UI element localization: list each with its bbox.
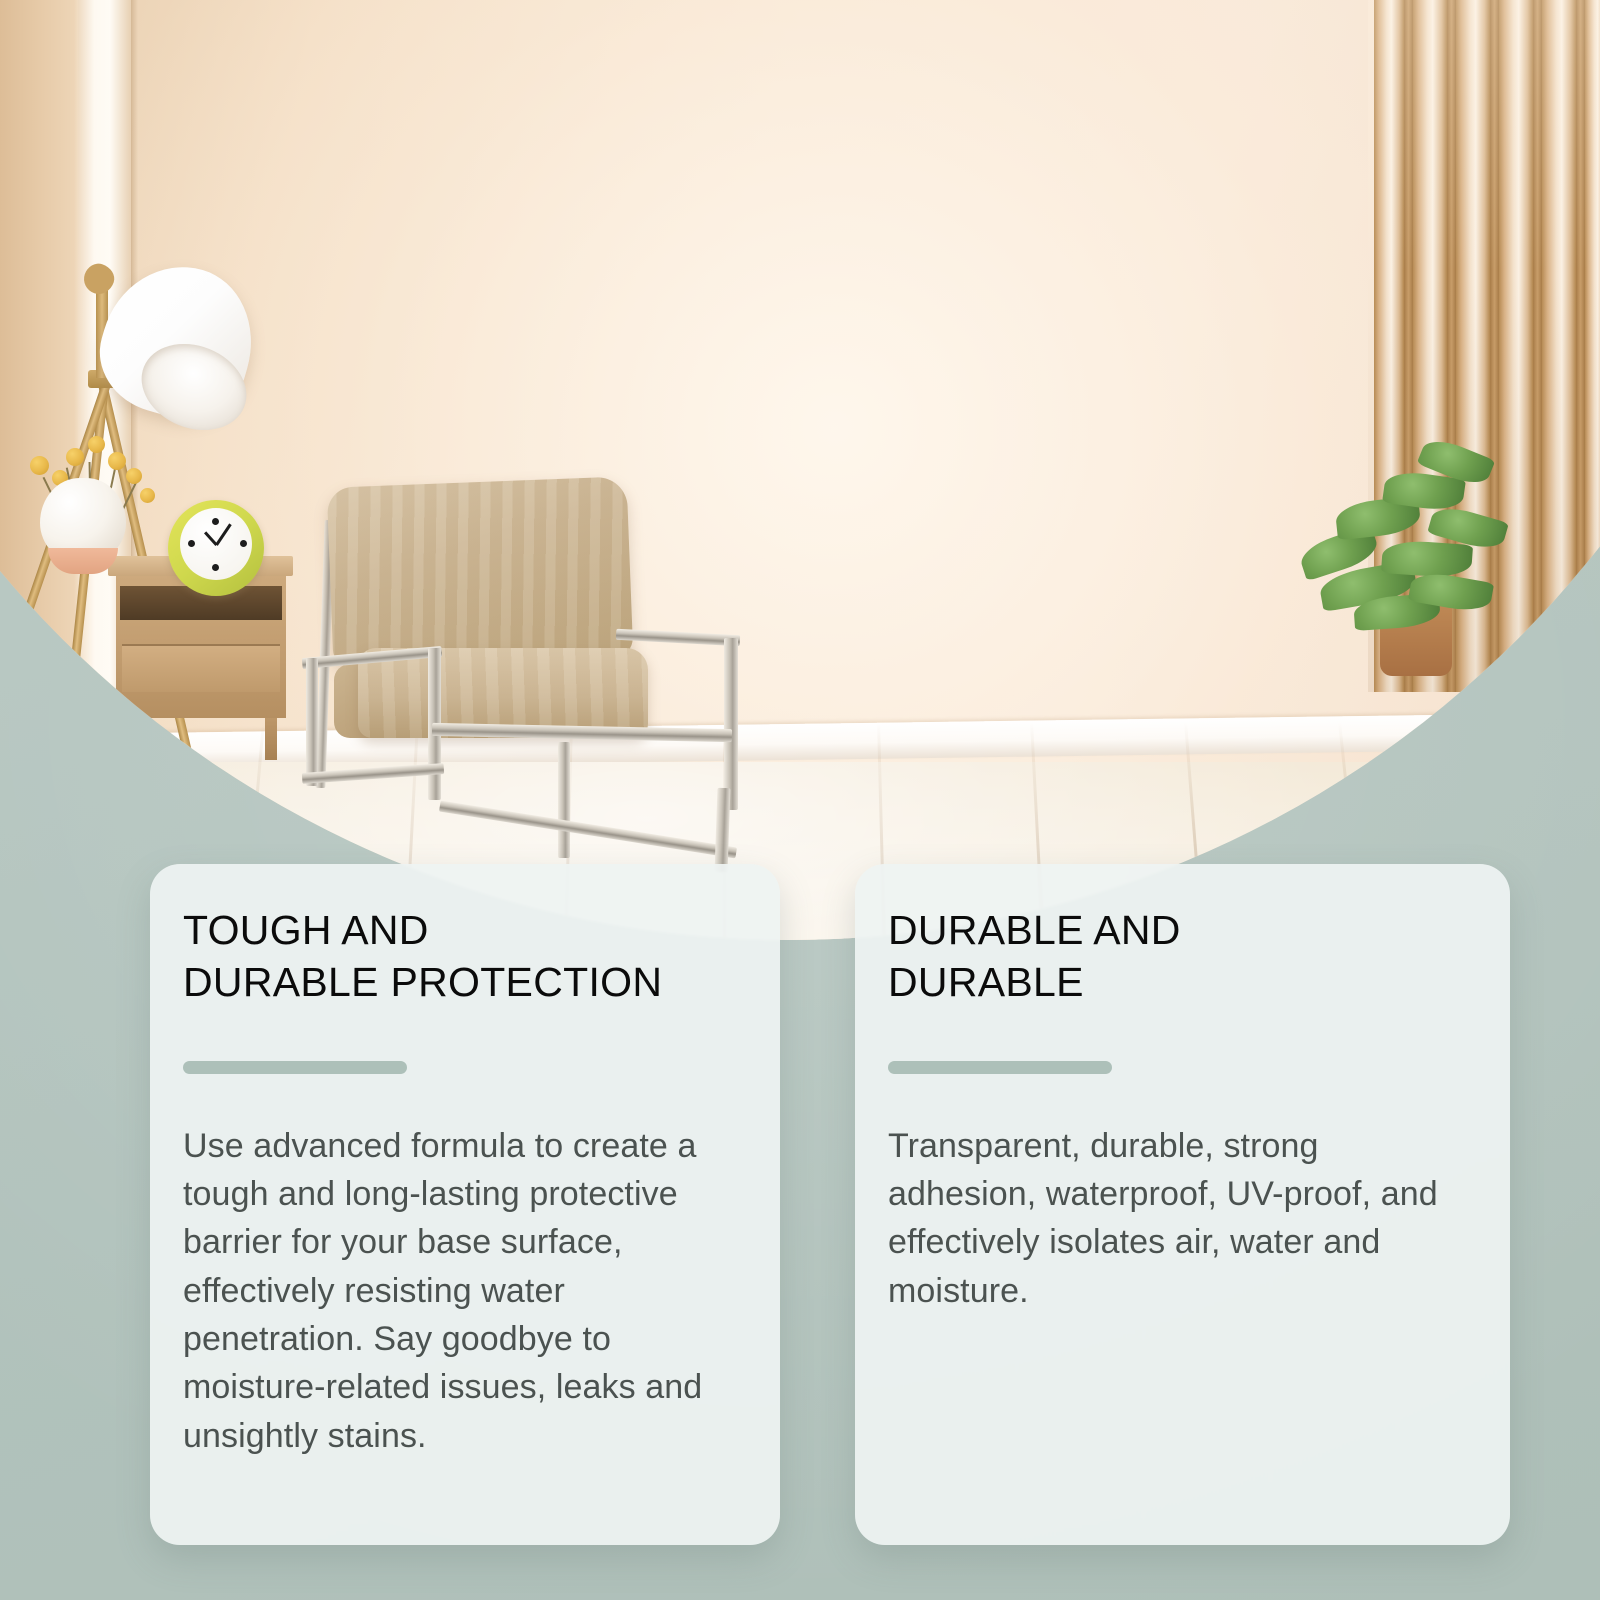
card-title: DURABLE AND DURABLE: [888, 904, 1476, 1009]
card-divider: [183, 1061, 407, 1074]
card-divider: [888, 1061, 1112, 1074]
card-body: Use advanced formula to create a tough a…: [183, 1122, 746, 1460]
product-feature-banner: TOUGH AND DURABLE PROTECTION Use advance…: [0, 0, 1600, 1600]
feature-cards: TOUGH AND DURABLE PROTECTION Use advance…: [0, 0, 1600, 1600]
feature-card-tough-and-durable-protection[interactable]: TOUGH AND DURABLE PROTECTION Use advance…: [150, 864, 780, 1545]
card-title: TOUGH AND DURABLE PROTECTION: [183, 904, 746, 1009]
card-body: Transparent, durable, strong adhesion, w…: [888, 1122, 1476, 1315]
feature-card-durable-and-durable[interactable]: DURABLE AND DURABLE Transparent, durable…: [855, 864, 1510, 1545]
